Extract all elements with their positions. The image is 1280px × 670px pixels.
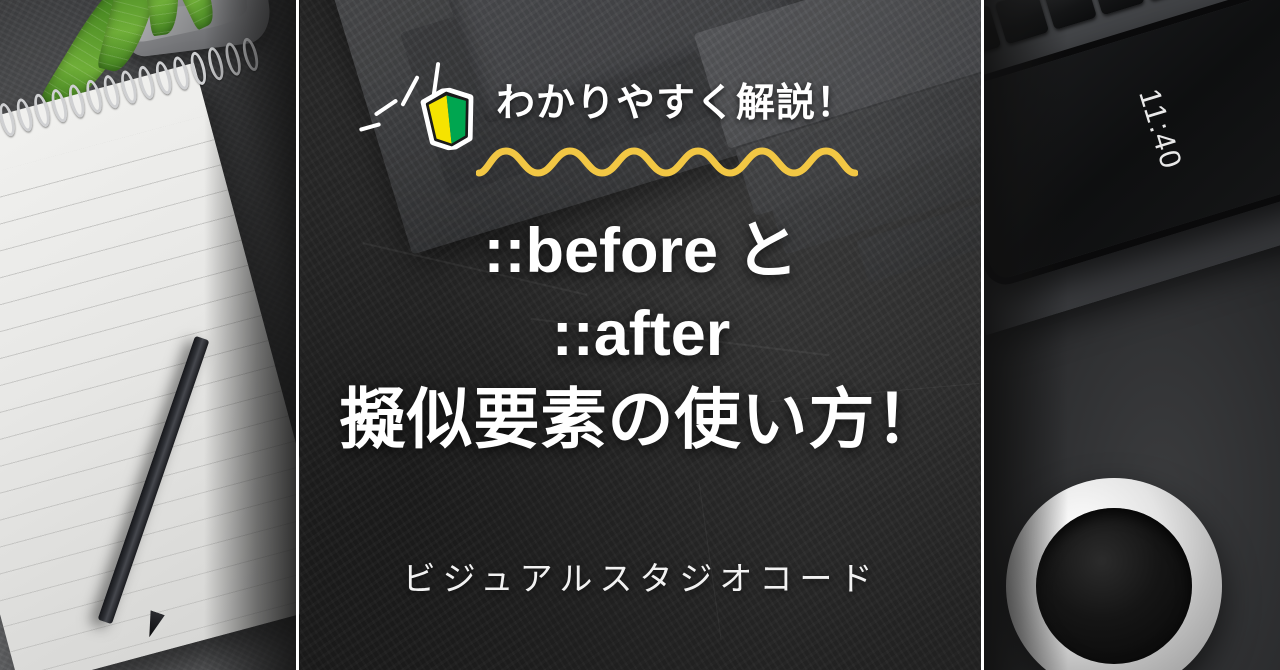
headline-banner: わかりやすく解説！ [300, 60, 982, 200]
sparkle-line [374, 98, 399, 116]
title-line-2: ::after [300, 293, 982, 376]
sparkle-line [400, 75, 419, 107]
wavy-underline [476, 142, 858, 182]
title-line-3: 擬似要素の使い方！ [300, 376, 982, 463]
sparkle-line [359, 122, 381, 132]
title-line-1: ::before と [300, 210, 982, 293]
eyecatch-canvas: 11:40 [0, 0, 1280, 670]
main-title: ::before と ::after 擬似要素の使い方！ [300, 210, 982, 463]
headline-text: わかりやすく解説！ [496, 72, 856, 128]
subtitle-text: ビジュアルスタジオコード [300, 552, 982, 600]
shoshinsha-beginner-mark-icon [419, 85, 479, 152]
overlay-content: わかりやすく解説！ ::before と ::after 擬似要素の使い方！ ビ… [0, 0, 1280, 670]
